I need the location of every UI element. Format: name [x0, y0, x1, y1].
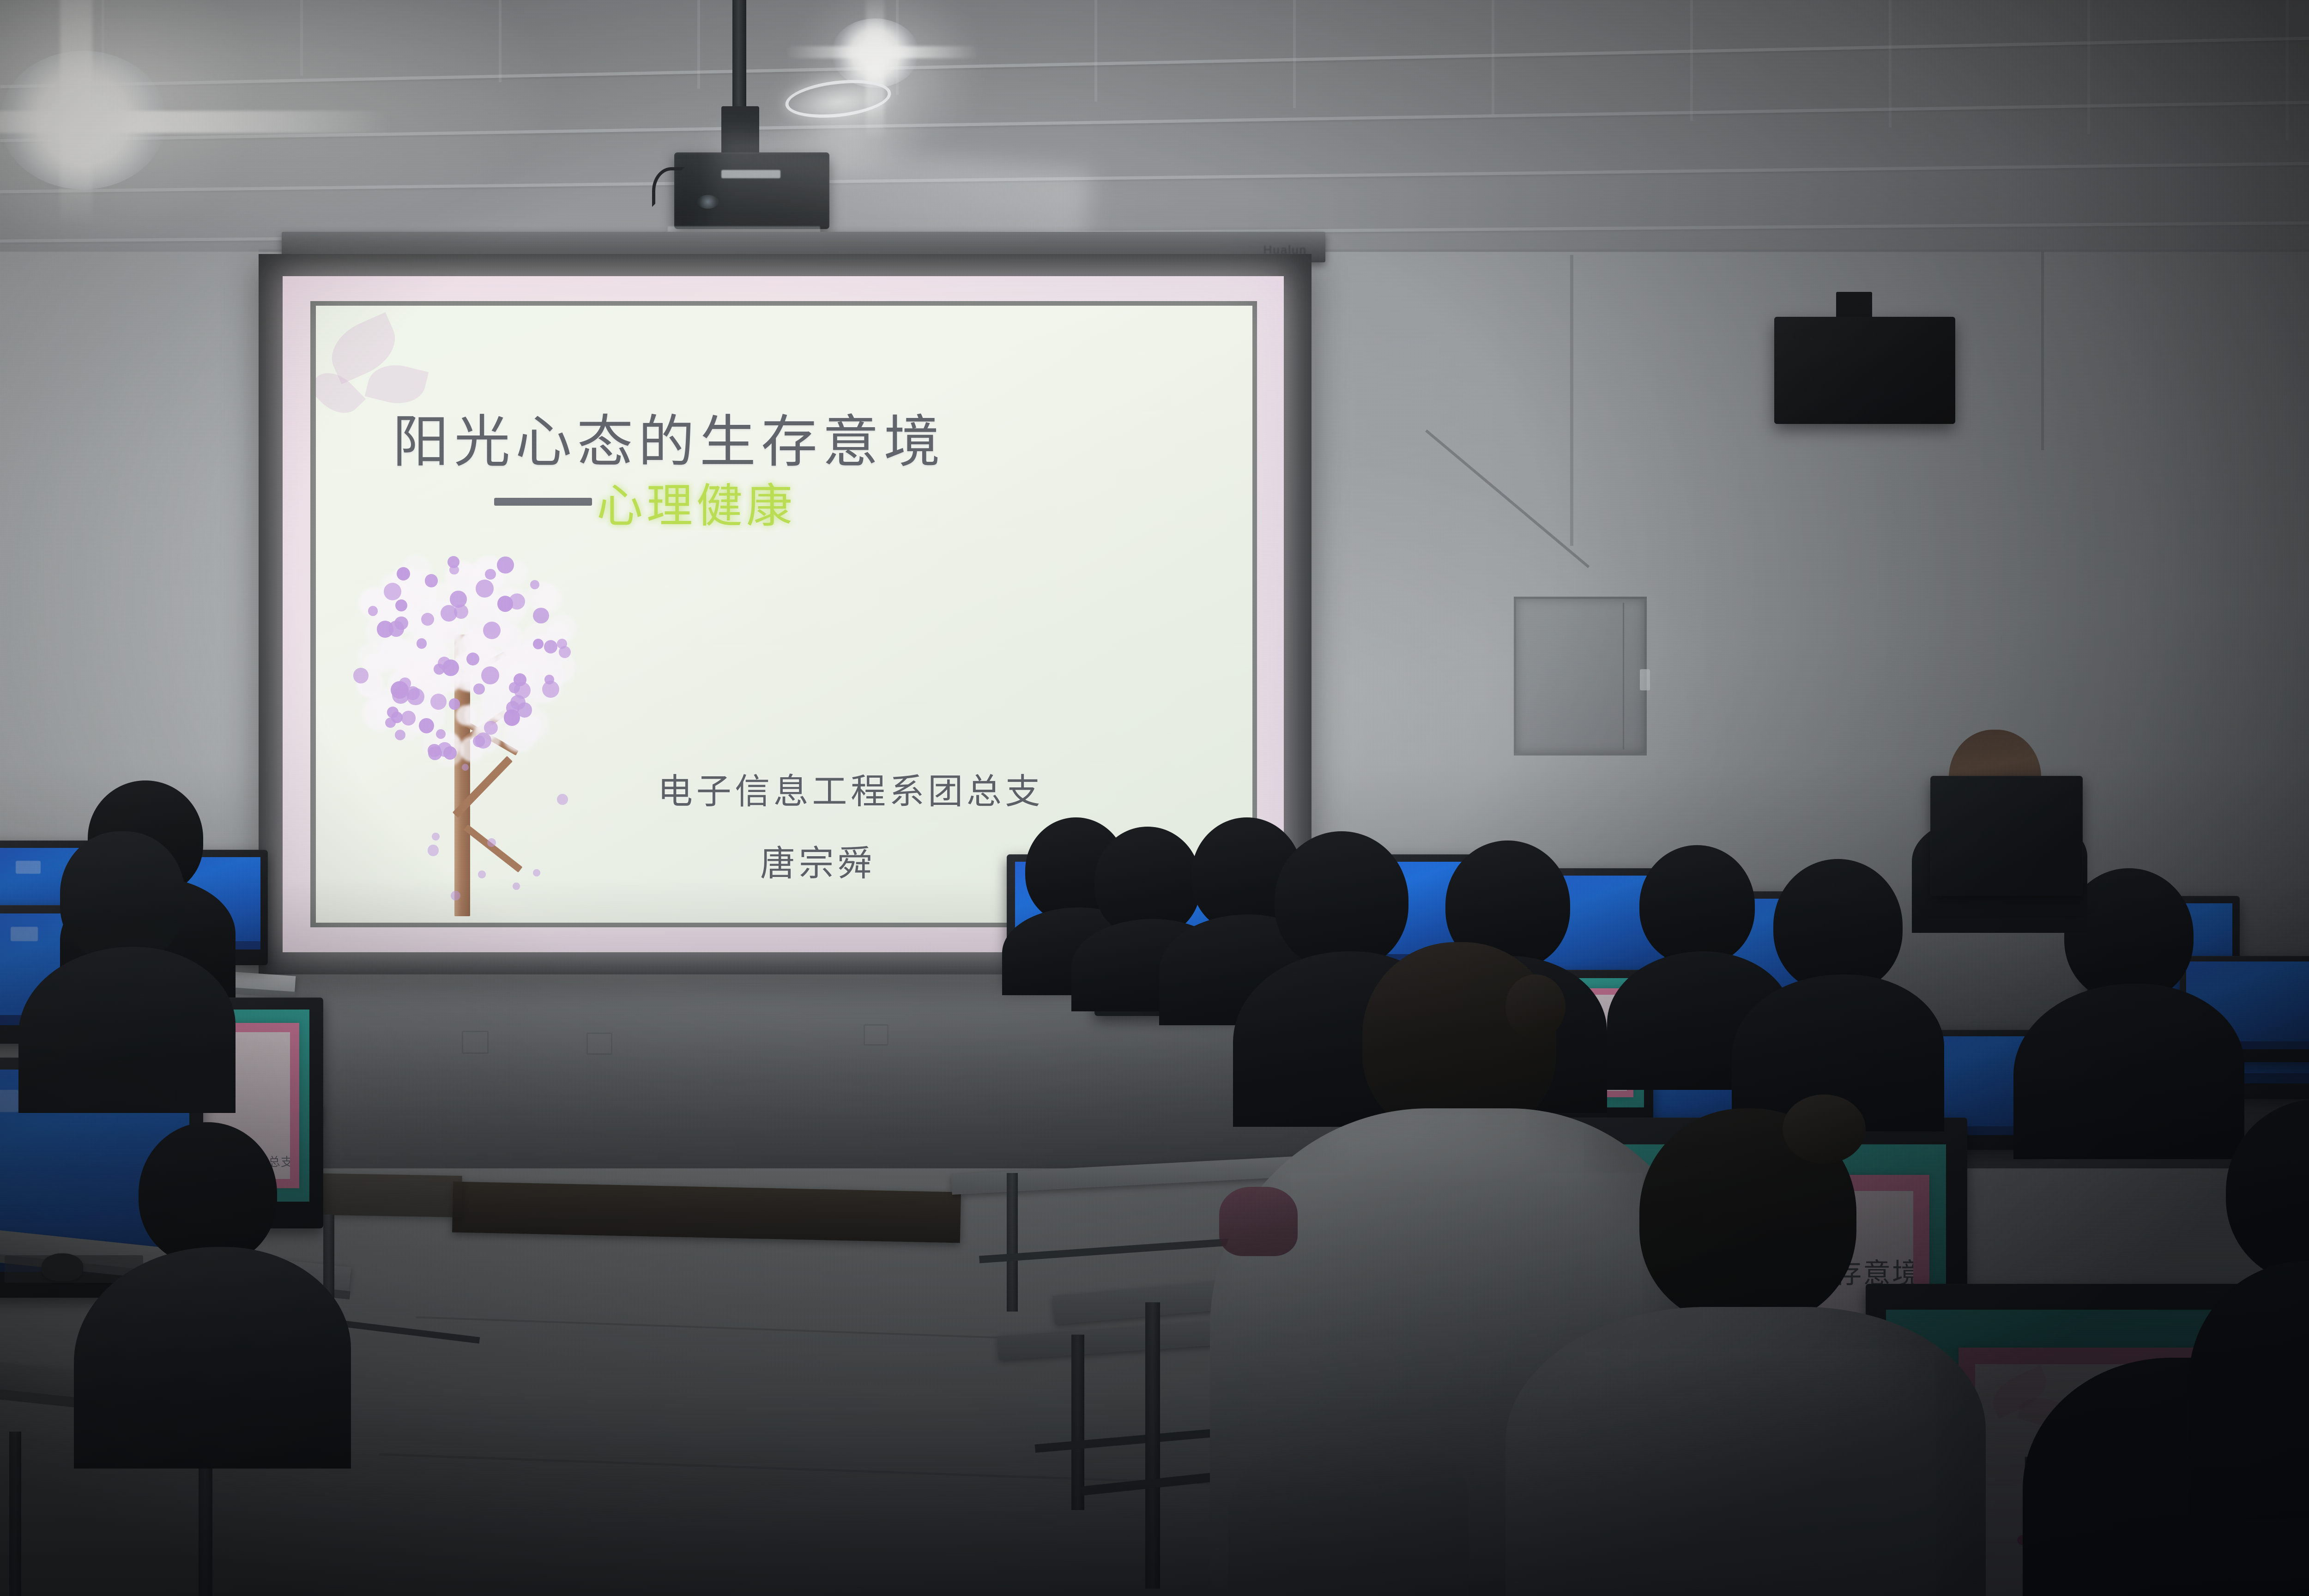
slide-subtitle: 心理健康 — [597, 468, 796, 535]
blossom-dot — [497, 596, 513, 611]
blossom-dot — [395, 599, 407, 611]
blossom-dot — [544, 675, 554, 684]
slide-organization: 电子信息工程系团总支 — [658, 763, 1044, 814]
classroom-photo: Hualun 阳光心态的生存意境 心理健康 — [0, 0, 2309, 1596]
blossom-dot — [425, 574, 438, 587]
blossom-dot — [441, 605, 457, 622]
blossom-dot — [485, 569, 496, 580]
cherry-blossom-tree-graphic — [347, 551, 578, 916]
blossom-dot — [533, 608, 549, 624]
blossom-dot — [497, 556, 514, 574]
falling-petal — [487, 838, 496, 847]
pink-bag — [1219, 1187, 1298, 1256]
blossom-dot — [481, 666, 499, 684]
falling-petal — [513, 883, 520, 890]
student-silhouette — [79, 1122, 337, 1445]
blossom-dot — [473, 683, 484, 695]
blossom-cluster — [456, 705, 476, 725]
blossom-dot — [392, 687, 409, 704]
slide-title: 阳光心态的生存意境 — [393, 396, 945, 478]
blossom-dot — [449, 698, 460, 709]
blossom-dot — [476, 580, 494, 598]
forearm — [1228, 1432, 1469, 1596]
slide-subtitle-row: 心理健康 — [494, 468, 796, 535]
slide-subtitle-dash — [494, 498, 592, 506]
blossom-dot — [530, 580, 539, 589]
ceiling-shading — [0, 0, 2309, 259]
blossom-dot — [384, 583, 401, 600]
blossom-dot — [421, 613, 434, 626]
blossom-dot — [428, 746, 442, 760]
falling-petal — [478, 871, 486, 878]
blossom-dot — [450, 591, 467, 608]
blossom-dot — [430, 694, 447, 710]
student-silhouette — [1746, 859, 1930, 1099]
falling-petal — [428, 845, 439, 856]
blossom-dot — [388, 621, 405, 637]
blossom-dot — [395, 730, 405, 740]
blossom-dot — [475, 732, 491, 749]
blossom-dot — [401, 711, 416, 725]
blossom-dot — [353, 668, 369, 683]
slide-presenter-name: 唐宗舜 — [760, 835, 876, 886]
blossom-dot — [517, 702, 532, 718]
student-silhouette-foreground — [2198, 1099, 2309, 1515]
student-ponytail-right — [1533, 1108, 1986, 1596]
blossom-dot — [449, 565, 459, 575]
blossom-dot — [391, 712, 403, 723]
blossom-dot — [397, 567, 410, 580]
blossom-dot — [466, 653, 479, 665]
blossom-dot — [544, 640, 557, 653]
student-silhouette — [32, 831, 226, 1090]
blossom-dot — [483, 622, 501, 639]
falling-petal — [432, 833, 440, 840]
blossom-dot — [443, 746, 457, 760]
falling-petal — [533, 869, 540, 877]
monitor[interactable] — [1930, 776, 2083, 896]
blossom-dot — [368, 606, 378, 616]
falling-petal — [557, 794, 568, 805]
